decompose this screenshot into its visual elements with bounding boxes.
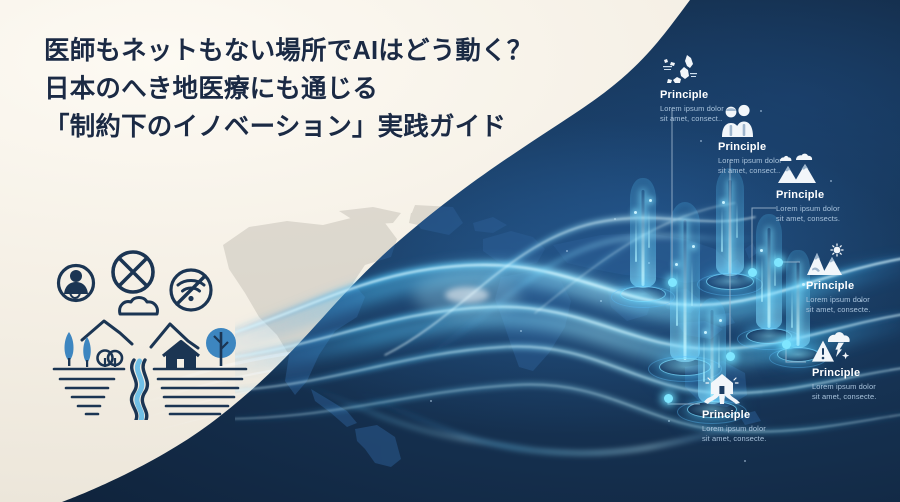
cloud-icon xyxy=(120,298,158,315)
principle-card-3[interactable]: Principle Lorem ipsum dolor sit amet, co… xyxy=(776,152,900,223)
principle-card-6[interactable]: Principle Lorem ipsum dolor sit amet, co… xyxy=(702,372,830,443)
principle-body: Lorem ipsum dolor sit amet, consecte. xyxy=(702,424,830,443)
connector-node-5 xyxy=(782,340,791,349)
infographic-canvas: Principle Lorem ipsum dolor sit amet, co… xyxy=(0,0,900,502)
headline-line-3: 「制約下のイノベーション」実践ガイド xyxy=(44,108,584,146)
principle-body-line2: sit amet, consecte. xyxy=(702,434,766,443)
principle-body-line1: Lorem ipsum dolor xyxy=(776,204,840,213)
elderly-couple-icon xyxy=(718,104,758,138)
principle-body: Lorem ipsum dolor sit amet, consects. xyxy=(776,204,900,223)
principle-title: Principle xyxy=(776,189,900,202)
village-house-river-icon xyxy=(702,372,742,406)
principle-title: Principle xyxy=(660,89,788,102)
shrub xyxy=(98,351,123,368)
storm-warning-icon xyxy=(812,330,852,364)
no-entry-cross-icon xyxy=(113,252,153,292)
principle-body-line1: Lorem ipsum dolor xyxy=(718,156,782,165)
principle-body: Lorem ipsum dolor sit amet, consecte. xyxy=(806,295,900,314)
mountains-clouds-icon xyxy=(776,152,816,186)
connector-node-4 xyxy=(774,258,783,267)
principle-body-line1: Lorem ipsum dolor xyxy=(660,104,724,113)
page-title: 医師もネットもない場所でAIはどう動く？ 日本のへき地医療にも通じる 「制約下の… xyxy=(44,32,584,146)
japan-map-icon xyxy=(660,52,700,86)
principle-card-4[interactable]: Principle Lorem ipsum dolor sit amet, co… xyxy=(806,243,900,314)
principle-body-line2: sit amet, consect.. xyxy=(660,114,722,123)
river xyxy=(131,360,147,420)
mountains-sun-icon xyxy=(806,243,846,277)
broadleaf-tree xyxy=(206,328,236,366)
principle-title: Principle xyxy=(806,280,900,293)
headline-line-2: 日本のへき地医療にも通じる xyxy=(44,70,584,108)
connector-node-1 xyxy=(668,278,677,287)
doctor-icon xyxy=(59,266,94,301)
connector-node-3 xyxy=(748,268,757,277)
principle-body-line2: sit amet, consect.. xyxy=(718,166,780,175)
principle-body-line1: Lorem ipsum dolor xyxy=(806,295,870,304)
terraced-fields xyxy=(54,369,246,414)
connector-node-6 xyxy=(664,394,673,403)
no-wifi-icon xyxy=(171,270,211,310)
rural-village-no-connectivity-illustration xyxy=(46,248,261,420)
connector-node-2 xyxy=(726,352,735,361)
headline-line-1: 医師もネットもない場所でAIはどう動く？ xyxy=(44,32,584,70)
principle-body-line2: sit amet, consecte. xyxy=(806,305,870,314)
principle-body-line1: Lorem ipsum dolor xyxy=(702,424,766,433)
principle-title: Principle xyxy=(702,409,830,422)
principle-body-line2: sit amet, consects. xyxy=(776,214,840,223)
